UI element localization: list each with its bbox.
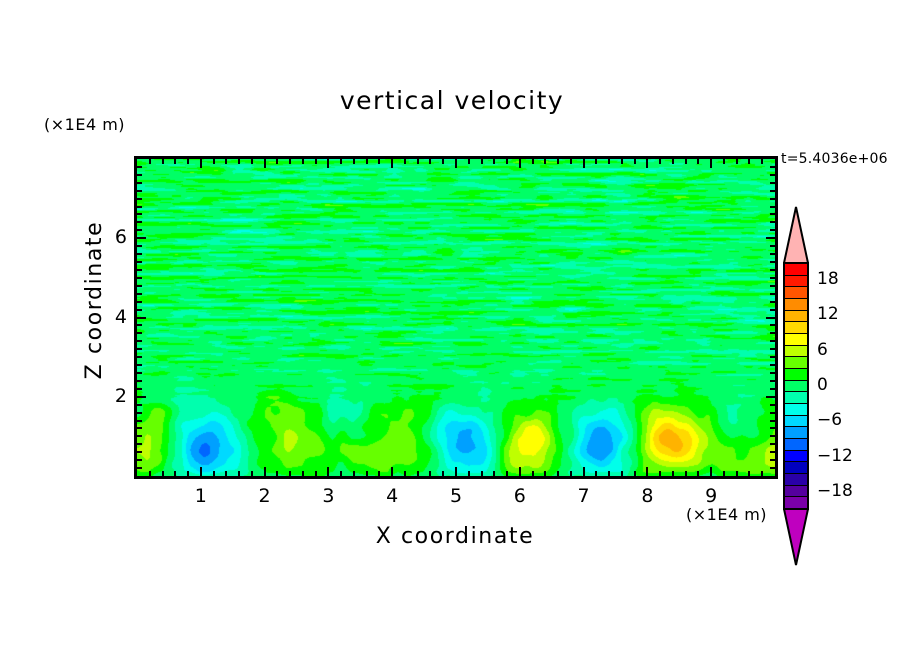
x-minor-tick	[748, 471, 750, 476]
y-minor-tick-right	[770, 245, 775, 247]
x-minor-tick-top	[697, 159, 699, 164]
y-minor-tick	[137, 340, 142, 342]
y-major-tick	[137, 237, 146, 239]
x-minor-tick	[557, 471, 559, 476]
y-minor-tick-right	[770, 443, 775, 445]
y-minor-tick	[137, 261, 142, 263]
x-major-tick	[327, 467, 329, 476]
x-minor-tick	[187, 471, 189, 476]
x-minor-tick-top	[468, 159, 470, 164]
x-major-tick	[455, 467, 457, 476]
x-minor-tick	[761, 471, 763, 476]
colorbar-tick-label: 6	[817, 340, 828, 360]
x-minor-tick-top	[506, 159, 508, 164]
colorbar-band	[785, 404, 807, 416]
x-minor-tick-top	[302, 159, 304, 164]
y-minor-tick	[137, 190, 142, 192]
colorbar-band	[785, 287, 807, 299]
y-minor-tick-right	[770, 356, 775, 358]
x-minor-tick-top	[353, 159, 355, 164]
y-minor-tick	[137, 380, 142, 382]
colorbar-tick-label: −18	[817, 481, 853, 501]
x-major-tick	[519, 467, 521, 476]
x-minor-tick	[213, 471, 215, 476]
x-minor-tick-top	[174, 159, 176, 164]
colorbar-band	[785, 276, 807, 288]
y-minor-tick-right	[770, 435, 775, 437]
colorbar-band	[785, 427, 807, 439]
x-minor-tick	[736, 471, 738, 476]
x-minor-tick-top	[378, 159, 380, 164]
y-minor-tick-right	[770, 412, 775, 414]
x-minor-tick-top	[340, 159, 342, 164]
x-minor-tick	[608, 471, 610, 476]
x-major-tick	[646, 467, 648, 476]
x-tick-label: 9	[691, 485, 731, 507]
y-minor-tick-right	[770, 261, 775, 263]
colorbar-band	[785, 486, 807, 498]
x-minor-tick	[506, 471, 508, 476]
y-minor-tick	[137, 427, 142, 429]
y-minor-tick-right	[770, 348, 775, 350]
x-minor-tick-top	[595, 159, 597, 164]
x-minor-tick	[468, 471, 470, 476]
colorbar-band	[785, 264, 807, 276]
x-axis-title: X coordinate	[245, 524, 665, 549]
x-minor-tick-top	[634, 159, 636, 164]
colorbar-band	[785, 451, 807, 463]
y-minor-tick-right	[770, 285, 775, 287]
y-minor-tick-right	[770, 467, 775, 469]
y-minor-tick	[137, 404, 142, 406]
colorbar-band	[785, 311, 807, 323]
colorbar-band	[785, 416, 807, 428]
colorbar: 181260−6−12−18	[783, 206, 809, 516]
colorbar-band	[785, 392, 807, 404]
colorbar-band	[785, 439, 807, 451]
x-major-tick	[200, 467, 202, 476]
x-major-tick-top	[200, 159, 202, 168]
x-minor-tick-top	[404, 159, 406, 164]
y-minor-tick	[137, 356, 142, 358]
y-minor-tick-right	[770, 166, 775, 168]
x-major-tick	[710, 467, 712, 476]
colorbar-tick-label: −6	[817, 410, 842, 430]
colorbar-band	[785, 474, 807, 486]
x-minor-tick-top	[213, 159, 215, 164]
x-minor-tick-top	[672, 159, 674, 164]
x-minor-tick	[481, 471, 483, 476]
y-major-tick-right	[766, 396, 775, 398]
y-minor-tick-right	[770, 277, 775, 279]
y-minor-tick-right	[770, 380, 775, 382]
y-minor-tick-right	[770, 459, 775, 461]
figure-root: vertical velocity (×1E4 m) (×1E4 m) t=5.…	[0, 0, 904, 654]
x-tick-label: 2	[245, 485, 285, 507]
x-minor-tick	[404, 471, 406, 476]
x-minor-tick	[723, 471, 725, 476]
y-minor-tick	[137, 245, 142, 247]
y-minor-tick	[137, 213, 142, 215]
x-minor-tick-top	[225, 159, 227, 164]
colorbar-tick-label: 12	[817, 304, 839, 324]
y-minor-tick	[137, 348, 142, 350]
x-minor-tick	[149, 471, 151, 476]
x-minor-tick-top	[532, 159, 534, 164]
x-minor-tick	[544, 471, 546, 476]
x-minor-tick	[289, 471, 291, 476]
x-tick-label: 7	[564, 485, 604, 507]
x-minor-tick	[162, 471, 164, 476]
x-tick-label: 1	[181, 485, 221, 507]
contour-field-canvas	[137, 159, 775, 476]
y-minor-tick-right	[770, 174, 775, 176]
x-major-tick-top	[583, 159, 585, 168]
x-minor-tick	[276, 471, 278, 476]
y-minor-tick	[137, 324, 142, 326]
x-minor-tick-top	[608, 159, 610, 164]
x-minor-tick-top	[493, 159, 495, 164]
x-minor-tick-top	[570, 159, 572, 164]
y-minor-tick-right	[770, 420, 775, 422]
y-minor-tick-right	[770, 293, 775, 295]
plot-area	[134, 156, 778, 479]
x-major-tick-top	[455, 159, 457, 168]
x-minor-tick	[366, 471, 368, 476]
colorbar-band	[785, 381, 807, 393]
x-minor-tick-top	[162, 159, 164, 164]
x-minor-tick	[595, 471, 597, 476]
colorbar-band	[785, 334, 807, 346]
colorbar-band	[785, 369, 807, 381]
colorbar-under-cap-icon	[783, 508, 809, 566]
y-minor-tick	[137, 166, 142, 168]
y-minor-tick	[137, 420, 142, 422]
y-minor-tick	[137, 221, 142, 223]
x-minor-tick-top	[442, 159, 444, 164]
x-minor-tick	[302, 471, 304, 476]
y-minor-tick-right	[770, 364, 775, 366]
x-minor-tick	[378, 471, 380, 476]
y-minor-tick-right	[770, 198, 775, 200]
x-major-tick	[583, 467, 585, 476]
time-annotation: t=5.4036e+06	[781, 151, 888, 167]
y-minor-tick	[137, 435, 142, 437]
z-axis-unit-label: (×1E4 m)	[44, 115, 125, 134]
y-minor-tick-right	[770, 404, 775, 406]
y-minor-tick	[137, 253, 142, 255]
y-minor-tick-right	[770, 229, 775, 231]
x-minor-tick-top	[748, 159, 750, 164]
y-minor-tick-right	[770, 332, 775, 334]
y-minor-tick	[137, 443, 142, 445]
colorbar-band	[785, 299, 807, 311]
x-minor-tick	[353, 471, 355, 476]
y-major-tick-right	[766, 317, 775, 319]
y-tick-label: 4	[87, 306, 127, 328]
colorbar-band	[785, 357, 807, 369]
x-major-tick	[391, 467, 393, 476]
y-minor-tick-right	[770, 182, 775, 184]
y-minor-tick-right	[770, 372, 775, 374]
y-minor-tick-right	[770, 253, 775, 255]
colorbar-band	[785, 346, 807, 358]
x-major-tick-top	[710, 159, 712, 168]
y-minor-tick	[137, 293, 142, 295]
x-minor-tick-top	[429, 159, 431, 164]
x-tick-label: 3	[308, 485, 348, 507]
x-minor-tick-top	[276, 159, 278, 164]
colorbar-band	[785, 497, 807, 508]
x-minor-tick	[251, 471, 253, 476]
x-minor-tick	[238, 471, 240, 476]
x-minor-tick	[493, 471, 495, 476]
y-minor-tick-right	[770, 309, 775, 311]
y-minor-tick	[137, 372, 142, 374]
x-minor-tick-top	[544, 159, 546, 164]
colorbar-over-cap-icon	[783, 206, 809, 264]
colorbar-tick-label: 18	[817, 269, 839, 289]
y-major-tick	[137, 396, 146, 398]
y-minor-tick	[137, 269, 142, 271]
x-minor-tick-top	[659, 159, 661, 164]
x-minor-tick	[570, 471, 572, 476]
page-title: vertical velocity	[0, 86, 904, 115]
y-minor-tick	[137, 277, 142, 279]
y-tick-label: 6	[87, 226, 127, 248]
y-minor-tick	[137, 229, 142, 231]
y-minor-tick	[137, 451, 142, 453]
x-minor-tick-top	[251, 159, 253, 164]
y-minor-tick-right	[770, 190, 775, 192]
y-minor-tick	[137, 182, 142, 184]
colorbar-band	[785, 322, 807, 334]
y-major-tick-right	[766, 237, 775, 239]
y-major-tick	[137, 317, 146, 319]
colorbar-band	[785, 462, 807, 474]
x-minor-tick	[634, 471, 636, 476]
y-minor-tick-right	[770, 324, 775, 326]
x-minor-tick	[174, 471, 176, 476]
x-minor-tick	[659, 471, 661, 476]
y-minor-tick-right	[770, 427, 775, 429]
x-minor-tick	[685, 471, 687, 476]
x-minor-tick	[697, 471, 699, 476]
x-minor-tick	[225, 471, 227, 476]
x-major-tick-top	[327, 159, 329, 168]
x-minor-tick-top	[366, 159, 368, 164]
x-minor-tick-top	[149, 159, 151, 164]
y-minor-tick	[137, 206, 142, 208]
colorbar-tick-label: −12	[817, 446, 853, 466]
y-minor-tick-right	[770, 269, 775, 271]
x-minor-tick	[417, 471, 419, 476]
x-minor-tick-top	[723, 159, 725, 164]
x-minor-tick-top	[761, 159, 763, 164]
x-minor-tick-top	[238, 159, 240, 164]
y-minor-tick	[137, 301, 142, 303]
y-minor-tick	[137, 364, 142, 366]
x-minor-tick-top	[736, 159, 738, 164]
y-minor-tick-right	[770, 388, 775, 390]
x-minor-tick-top	[621, 159, 623, 164]
x-axis-unit-label: (×1E4 m)	[686, 505, 767, 524]
x-minor-tick-top	[187, 159, 189, 164]
y-minor-tick	[137, 412, 142, 414]
x-minor-tick-top	[685, 159, 687, 164]
x-minor-tick	[672, 471, 674, 476]
x-minor-tick-top	[289, 159, 291, 164]
y-tick-label: 2	[87, 385, 127, 407]
x-minor-tick-top	[315, 159, 317, 164]
y-minor-tick	[137, 198, 142, 200]
y-minor-tick	[137, 174, 142, 176]
x-minor-tick-top	[417, 159, 419, 164]
x-major-tick	[264, 467, 266, 476]
x-major-tick-top	[264, 159, 266, 168]
colorbar-bands	[783, 262, 809, 510]
x-minor-tick-top	[481, 159, 483, 164]
y-minor-tick	[137, 309, 142, 311]
y-minor-tick	[137, 467, 142, 469]
x-tick-label: 8	[627, 485, 667, 507]
x-tick-label: 6	[500, 485, 540, 507]
y-minor-tick-right	[770, 213, 775, 215]
x-tick-label: 5	[436, 485, 476, 507]
y-minor-tick	[137, 388, 142, 390]
colorbar-tick-label: 0	[817, 375, 828, 395]
y-minor-tick-right	[770, 451, 775, 453]
x-major-tick-top	[391, 159, 393, 168]
y-minor-tick-right	[770, 340, 775, 342]
y-minor-tick-right	[770, 221, 775, 223]
x-minor-tick	[429, 471, 431, 476]
x-minor-tick	[532, 471, 534, 476]
y-minor-tick	[137, 285, 142, 287]
y-minor-tick-right	[770, 301, 775, 303]
x-tick-label: 4	[372, 485, 412, 507]
y-minor-tick-right	[770, 206, 775, 208]
x-minor-tick	[621, 471, 623, 476]
x-major-tick-top	[646, 159, 648, 168]
x-minor-tick-top	[557, 159, 559, 164]
x-minor-tick	[315, 471, 317, 476]
x-minor-tick	[442, 471, 444, 476]
y-minor-tick	[137, 459, 142, 461]
x-minor-tick	[340, 471, 342, 476]
y-minor-tick	[137, 332, 142, 334]
x-major-tick-top	[519, 159, 521, 168]
